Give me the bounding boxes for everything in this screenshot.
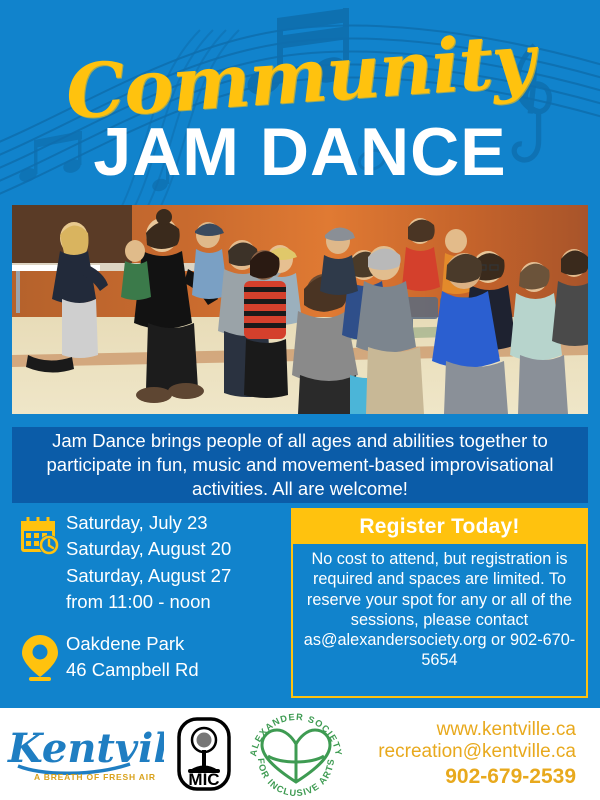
mic-logo-svg: MIC	[176, 716, 232, 792]
schedule-line-3: Saturday, August 27	[66, 563, 231, 589]
register-box: Register Today! No cost to attend, but r…	[291, 508, 588, 698]
location-lines: Oakdene Park 46 Campbell Rd	[66, 629, 199, 684]
svg-text:A BREATH OF FRESH AIR: A BREATH OF FRESH AIR	[34, 772, 156, 782]
contact-info: www.kentville.ca recreation@kentville.ca…	[352, 719, 600, 790]
contact-phone: 902-679-2539	[352, 764, 576, 789]
location-line-1: Oakdene Park	[66, 631, 199, 657]
location-row: Oakdene Park 46 Campbell Rd	[14, 629, 289, 684]
schedule-row: Saturday, July 23 Saturday, August 20 Sa…	[14, 508, 289, 615]
map-pin-icon	[14, 629, 66, 681]
map-pin-icon-svg	[20, 633, 60, 681]
register-body-text: No cost to attend, but registration is r…	[293, 544, 586, 696]
contact-website[interactable]: www.kentville.ca	[352, 719, 576, 742]
schedule-line-4: from 11:00 - noon	[66, 589, 231, 615]
calendar-clock-icon	[14, 508, 66, 558]
description-text: Jam Dance brings people of all ages and …	[22, 429, 578, 500]
poster-header: Community JAM DANCE	[0, 0, 600, 205]
svg-text:MIC: MIC	[188, 770, 219, 789]
event-details: Saturday, July 23 Saturday, August 20 Sa…	[14, 508, 289, 684]
schedule-line-2: Saturday, August 20	[66, 536, 231, 562]
kentville-logo: Kentville A BREATH OF FRESH AIR	[0, 718, 168, 790]
calendar-clock-icon-svg	[18, 514, 62, 558]
svg-text:Kentville: Kentville	[7, 725, 164, 772]
page-title-main: JAM DANCE	[0, 118, 600, 186]
kentville-logo-svg: Kentville A BREATH OF FRESH AIR	[4, 718, 164, 790]
location-line-2: 46 Campbell Rd	[66, 657, 199, 683]
alexander-society-logo: ALEXANDER SOCIETY FOR INCLUSIVE ARTS	[240, 712, 352, 796]
register-heading: Register Today!	[293, 510, 586, 544]
contact-email[interactable]: recreation@kentville.ca	[352, 741, 576, 764]
description-box: Jam Dance brings people of all ages and …	[12, 427, 588, 503]
event-photo-image	[12, 205, 588, 414]
alexander-society-logo-svg: ALEXANDER SOCIETY FOR INCLUSIVE ARTS	[246, 712, 346, 796]
schedule-line-1: Saturday, July 23	[66, 510, 231, 536]
event-photo	[12, 205, 588, 414]
poster-footer: Kentville A BREATH OF FRESH AIR MIC	[0, 708, 600, 800]
poster-canvas: Community JAM DANCE	[0, 0, 600, 800]
schedule-lines: Saturday, July 23 Saturday, August 20 Sa…	[66, 508, 231, 615]
mic-logo: MIC	[168, 716, 240, 792]
